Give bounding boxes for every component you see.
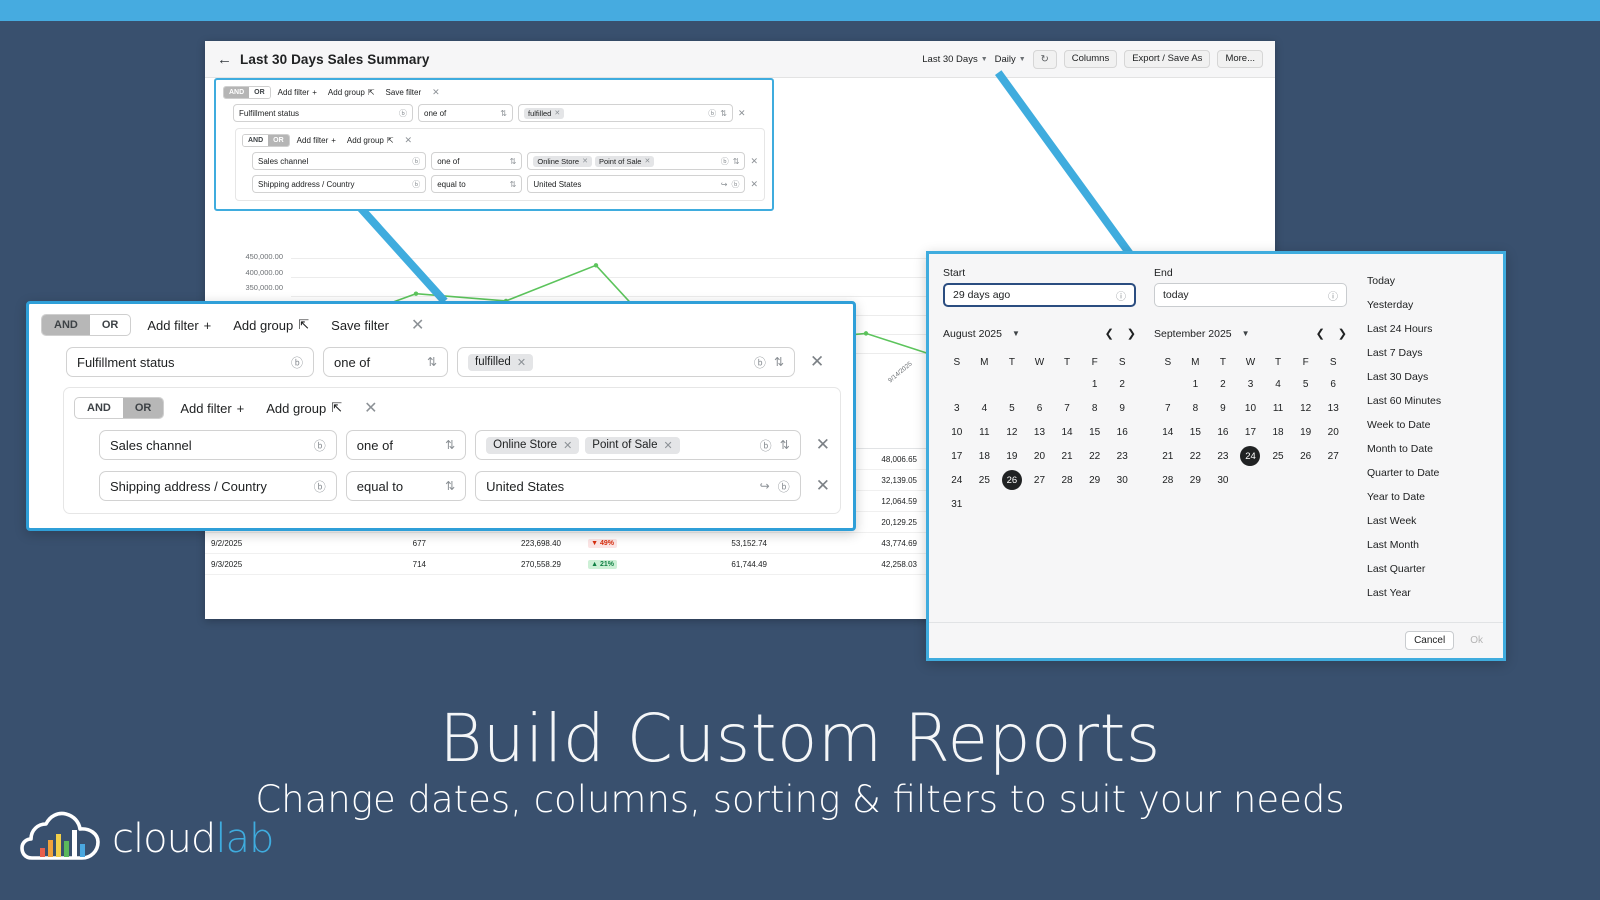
clear-icon[interactable]: ⓑ (721, 156, 729, 167)
chevron-down-icon: ▼ (1019, 56, 1026, 63)
date-range-label: Last 30 Days (922, 54, 977, 65)
calendar-day[interactable]: 3 (1237, 372, 1265, 396)
cell-orders: 677 (316, 539, 426, 548)
calendar-right-grid[interactable]: SMTWTFS123456789101112131415161718192021… (1154, 352, 1347, 492)
calendar-day[interactable]: 14 (1053, 420, 1081, 444)
filter-operator-select[interactable]: one of ⇅ (346, 430, 466, 460)
filter-row: Shipping address / Country ⓑ equal to ⇅ … (74, 471, 830, 501)
calendar-day[interactable]: 9 (1209, 396, 1237, 420)
end-label: End (1154, 267, 1347, 279)
plus-icon: + (204, 318, 212, 333)
calendar-day[interactable]: 18 (971, 444, 999, 468)
calendar-day[interactable]: 10 (943, 420, 971, 444)
date-preset-item[interactable]: Last Week (1361, 509, 1503, 533)
chevron-left-icon[interactable]: ❮ (1316, 327, 1325, 340)
calendar-dow: S (1108, 352, 1136, 372)
y-tick: 450,000.00 (215, 252, 283, 268)
filter-field-input[interactable]: Sales channel ⓑ (99, 430, 337, 460)
filter-group-toolbar: AND OR Add filter+ Add group⇱ Save filte… (223, 86, 765, 99)
calendar-day[interactable]: 24 (1237, 444, 1265, 468)
cancel-button[interactable]: Cancel (1405, 631, 1454, 650)
and-or-toggle[interactable]: AND OR (223, 86, 271, 99)
date-range-picker: Start 29 days ago ⓘ End today ⓘ (926, 251, 1506, 661)
calendars: August 2025 ▼ ❮ ❯ SMTWTFS123456789101112… (943, 327, 1347, 516)
calendar-day[interactable]: 6 (1319, 372, 1347, 396)
calendar-day[interactable]: 7 (1053, 396, 1081, 420)
filter-group-toolbar: AND OR Add filter+ Add group⇱ Save filte… (41, 314, 841, 336)
chevron-right-icon[interactable]: ❯ (1338, 327, 1347, 340)
plus-icon: + (331, 136, 336, 145)
calendar-day[interactable]: 9 (1108, 396, 1136, 420)
filter-operator-select[interactable]: one of ⇅ (431, 152, 522, 170)
calendar-blank (1053, 372, 1081, 396)
end-date-field: End today ⓘ (1154, 267, 1347, 307)
date-preset-item[interactable]: Last Month (1361, 533, 1503, 557)
calendar-day[interactable]: 27 (1319, 444, 1347, 468)
calendar-day[interactable]: 17 (1237, 420, 1265, 444)
save-filter-button[interactable]: Save filter (386, 88, 422, 97)
date-preset-item[interactable]: Last 30 Days (1361, 365, 1503, 389)
clear-icon[interactable]: ⓑ (412, 179, 420, 190)
calendar-day[interactable]: 31 (943, 492, 971, 516)
stepper-icon: ⇅ (445, 479, 455, 493)
add-filter-button[interactable]: Add filter+ (297, 136, 336, 145)
calendar-dow: W (1237, 352, 1265, 372)
filter-field-input[interactable]: Shipping address / Country ⓑ (99, 471, 337, 501)
add-group-button[interactable]: Add group⇱ (233, 317, 309, 333)
cell-sales: 223,698.40 (426, 539, 561, 548)
group-icon: ⇱ (298, 317, 309, 333)
calendar-day[interactable]: 17 (943, 444, 971, 468)
calendar-day[interactable]: 16 (1108, 420, 1136, 444)
calendar-day[interactable]: 21 (1053, 444, 1081, 468)
value-chip[interactable]: Point of Sale✕ (595, 156, 654, 167)
calendar-day[interactable]: 29 (1182, 468, 1210, 492)
value-chip[interactable]: fulfilled✕ (524, 108, 564, 119)
report-header: ← Last 30 Days Sales Summary Last 30 Day… (205, 41, 1275, 78)
plus-icon: + (237, 401, 245, 416)
close-icon[interactable]: ✕ (405, 135, 413, 146)
date-preset-item[interactable]: Quarter to Date (1361, 461, 1503, 485)
calendar-day[interactable]: 8 (1081, 396, 1109, 420)
cell-value-a: 61,744.49 (617, 560, 767, 569)
clear-icon[interactable]: ⓑ (754, 354, 766, 371)
calendar-blank (1154, 372, 1182, 396)
cell-value-b: 43,774.69 (767, 539, 917, 548)
cell-change: ▲ 21% (561, 559, 617, 569)
top-accent-bar (0, 0, 1600, 21)
calendar-day[interactable]: 19 (998, 444, 1026, 468)
filter-operator-select[interactable]: equal to ⇅ (346, 471, 466, 501)
calendar-day[interactable]: 28 (1154, 468, 1182, 492)
value-chip[interactable]: Point of Sale✕ (585, 437, 679, 454)
subgroup-toolbar: AND OR Add filter+ Add group⇱ ✕ (74, 397, 830, 419)
logo-text-cloud: cloud (112, 816, 215, 862)
calendar-day[interactable]: 27 (1026, 468, 1054, 492)
and-option[interactable]: AND (224, 87, 249, 98)
refresh-icon[interactable]: ↻ (1033, 50, 1057, 69)
calendar-dow: T (998, 352, 1026, 372)
date-picker-footer: Cancel Ok (929, 622, 1503, 658)
and-or-toggle[interactable]: AND OR (74, 397, 164, 419)
filter-subgroup: AND OR Add filter+ Add group⇱ ✕ Sales ch… (63, 387, 841, 514)
calendar-day[interactable]: 15 (1081, 420, 1109, 444)
stepper-icon: ⇅ (500, 109, 507, 118)
filter-value-input[interactable]: fulfilled✕ ⓑ⇅ (518, 104, 733, 122)
clear-icon[interactable]: ⓑ (412, 156, 420, 167)
remove-filter-row-icon[interactable]: ✕ (810, 352, 824, 372)
filter-value-input[interactable]: Online Store✕ Point of Sale✕ ⓑ⇅ (475, 430, 801, 460)
calendar-day-selected[interactable]: 26 (1002, 470, 1022, 490)
date-range-inputs: Start 29 days ago ⓘ End today ⓘ (943, 267, 1347, 307)
calendar-day[interactable]: 20 (1026, 444, 1054, 468)
granularity-label: Daily (995, 54, 1016, 65)
subgroup-toolbar: AND OR Add filter+ Add group⇱ ✕ (242, 134, 758, 147)
logo-text-lab: lab (215, 816, 273, 862)
columns-button[interactable]: Columns (1064, 50, 1118, 68)
calendar-dow: S (943, 352, 971, 372)
filter-panel-expanded: AND OR Add filter+ Add group⇱ Save filte… (26, 301, 856, 531)
calendar-day[interactable]: 4 (971, 396, 999, 420)
close-icon[interactable]: ✕ (364, 398, 377, 418)
calendar-dow: S (1319, 352, 1347, 372)
or-option[interactable]: OR (123, 398, 164, 418)
calendar-day[interactable]: 6 (1026, 396, 1054, 420)
calendar-day[interactable]: 23 (1108, 444, 1136, 468)
clear-icon[interactable]: ⓑ (314, 478, 326, 495)
close-icon[interactable]: ✕ (432, 87, 440, 98)
calendar-left-grid[interactable]: SMTWTFS123456789101112131415161718192021… (943, 352, 1136, 516)
stepper-icon: ⇅ (733, 157, 740, 166)
calendar-day[interactable]: 24 (943, 468, 971, 492)
cell-value-a: 53,152.74 (617, 539, 767, 548)
calendar-day[interactable]: 7 (1154, 396, 1182, 420)
calendar-dow: S (1154, 352, 1182, 372)
filter-subgroup: AND OR Add filter+ Add group⇱ ✕ Sales ch… (235, 128, 765, 201)
cell-date: 9/3/2025 (211, 560, 316, 569)
stepper-icon: ⇅ (774, 355, 784, 369)
calendar-day[interactable]: 10 (1237, 396, 1265, 420)
calendar-left-header: August 2025 ▼ ❮ ❯ (943, 327, 1136, 340)
filter-value-input[interactable]: United States ↪ⓑ (527, 175, 745, 193)
date-picker-body: Start 29 days ago ⓘ End today ⓘ (929, 254, 1503, 622)
and-option[interactable]: AND (243, 135, 268, 146)
filter-value-input[interactable]: United States ↪ⓑ (475, 471, 801, 501)
add-group-button[interactable]: Add group⇱ (347, 136, 394, 145)
start-label: Start (943, 267, 1136, 279)
chevron-down-icon[interactable]: ▼ (1242, 329, 1250, 338)
date-preset-item[interactable]: Last 24 Hours (1361, 317, 1503, 341)
filter-field-input[interactable]: Fulfillment status ⓑ (66, 347, 314, 377)
remove-filter-row-icon[interactable]: ✕ (816, 476, 830, 496)
chevron-right-icon[interactable]: ❯ (1127, 327, 1136, 340)
start-date-field: Start 29 days ago ⓘ (943, 267, 1136, 307)
chip-remove-icon: ✕ (582, 157, 588, 165)
calendar-dow: F (1081, 352, 1109, 372)
group-icon: ⇱ (368, 88, 375, 97)
calendar-day[interactable]: 2 (1108, 372, 1136, 396)
more-button[interactable]: More... (1217, 50, 1263, 68)
close-icon[interactable]: ✕ (411, 315, 424, 335)
calendar-blank (943, 372, 971, 396)
stepper-icon: ⇅ (510, 180, 517, 189)
calendar-dow: T (1053, 352, 1081, 372)
calendar-day[interactable]: 26 (998, 468, 1026, 492)
filter-field-input[interactable]: Fulfillment status ⓑ (233, 104, 413, 122)
start-date-value: 29 days ago (953, 289, 1010, 301)
remove-filter-row-icon[interactable]: ✕ (738, 108, 746, 119)
y-tick: 350,000.00 (215, 283, 283, 299)
add-group-button[interactable]: Add group⇱ (328, 88, 375, 97)
filter-operator-select[interactable]: one of ⇅ (418, 104, 513, 122)
filter-operator-select[interactable]: one of ⇅ (323, 347, 448, 377)
calendar-day-selected[interactable]: 24 (1240, 446, 1260, 466)
calendar-day[interactable]: 2 (1209, 372, 1237, 396)
stepper-icon: ⇅ (720, 109, 727, 118)
end-date-value: today (1163, 289, 1189, 301)
cell-change: ▼ 49% (561, 538, 617, 548)
clear-icon[interactable]: ⓑ (731, 179, 739, 190)
calendar-dow: F (1292, 352, 1320, 372)
calendar-day[interactable]: 11 (971, 420, 999, 444)
calendar-day[interactable]: 29 (1081, 468, 1109, 492)
calendar-right: September 2025 ▼ ❮ ❯ SMTWTFS123456789101… (1154, 327, 1347, 516)
add-filter-button[interactable]: Add filter+ (147, 318, 211, 333)
chip-remove-icon: ✕ (563, 439, 572, 452)
or-option[interactable]: OR (249, 87, 270, 98)
calendar-dow: T (1209, 352, 1237, 372)
calendar-day[interactable]: 16 (1209, 420, 1237, 444)
date-preset-item[interactable]: Month to Date (1361, 437, 1503, 461)
date-preset-item[interactable]: Last Year (1361, 581, 1503, 605)
date-preset-item[interactable]: Last 60 Minutes (1361, 389, 1503, 413)
enter-icon[interactable]: ↪ (721, 180, 728, 189)
filter-value-input[interactable]: fulfilled✕ ⓑ⇅ (457, 347, 795, 377)
calendar-day[interactable]: 30 (1209, 468, 1237, 492)
back-arrow-icon[interactable]: ← (217, 52, 232, 67)
remove-filter-row-icon[interactable]: ✕ (750, 179, 758, 190)
chevron-down-icon: ▼ (981, 56, 988, 63)
enter-icon[interactable]: ↪ (760, 479, 770, 493)
cloudlab-logo: cloudlab (20, 808, 273, 870)
date-preset-item[interactable]: Week to Date (1361, 413, 1503, 437)
filter-panel-compact: AND OR Add filter+ Add group⇱ Save filte… (214, 78, 774, 211)
calendar-day[interactable]: 25 (971, 468, 999, 492)
group-icon: ⇱ (331, 400, 342, 416)
calendar-day[interactable]: 12 (998, 420, 1026, 444)
granularity-selector[interactable]: Daily ▼ (995, 54, 1026, 65)
calendar-day[interactable]: 28 (1053, 468, 1081, 492)
marketing-headline: Build Custom Reports (0, 700, 1600, 777)
add-group-button[interactable]: Add group⇱ (266, 400, 342, 416)
ok-button[interactable]: Ok (1464, 632, 1489, 649)
value-chip[interactable]: Online Store✕ (486, 437, 579, 454)
cell-sales: 270,558.29 (426, 560, 561, 569)
calendar-day[interactable]: 3 (943, 396, 971, 420)
calendar-day[interactable]: 11 (1264, 396, 1292, 420)
date-preset-item[interactable]: Last Quarter (1361, 557, 1503, 581)
chip-remove-icon: ✕ (644, 157, 650, 165)
add-filter-button[interactable]: Add filter+ (180, 401, 244, 416)
clear-icon[interactable]: ⓑ (778, 478, 790, 495)
chip-remove-icon: ✕ (664, 439, 673, 452)
calendar-day[interactable]: 5 (998, 396, 1026, 420)
filter-value-input[interactable]: Online Store✕ Point of Sale✕ ⓑ⇅ (527, 152, 745, 170)
calendar-dow: M (971, 352, 999, 372)
help-icon[interactable]: ⓘ (1116, 288, 1126, 303)
date-preset-item[interactable]: Yesterday (1361, 293, 1503, 317)
save-filter-button[interactable]: Save filter (331, 318, 389, 333)
calendar-dow: W (1026, 352, 1054, 372)
clear-icon[interactable]: ⓑ (291, 354, 303, 371)
filter-row: Sales channel ⓑ one of ⇅ Online Store✕ P… (242, 152, 758, 170)
calendar-dow: T (1264, 352, 1292, 372)
help-icon[interactable]: ⓘ (1328, 288, 1338, 303)
export-save-as-button[interactable]: Export / Save As (1124, 50, 1210, 68)
and-option[interactable]: AND (42, 315, 90, 335)
chip-remove-icon: ✕ (517, 356, 526, 369)
end-date-input[interactable]: today ⓘ (1154, 283, 1347, 307)
date-preset-item[interactable]: Last 7 Days (1361, 341, 1503, 365)
cell-date: 9/2/2025 (211, 539, 316, 548)
and-or-toggle[interactable]: AND OR (41, 314, 131, 336)
report-toolbar: Last 30 Days ▼ Daily ▼ ↻ Columns Export … (922, 50, 1263, 69)
calendar-day[interactable]: 1 (1081, 372, 1109, 396)
calendar-left: August 2025 ▼ ❮ ❯ SMTWTFS123456789101112… (943, 327, 1136, 516)
chevron-left-icon[interactable]: ❮ (1105, 327, 1114, 340)
chevron-down-icon[interactable]: ▼ (1012, 329, 1020, 338)
clear-icon[interactable]: ⓑ (760, 437, 772, 454)
filter-field-input[interactable]: Sales channel ⓑ (252, 152, 426, 170)
filter-row: Fulfillment status ⓑ one of ⇅ fulfilled✕… (41, 347, 841, 377)
calendar-left-month: August 2025 (943, 328, 1002, 340)
calendar-day[interactable]: 8 (1182, 396, 1210, 420)
page-title: Last 30 Days Sales Summary (240, 52, 429, 67)
calendar-blank (998, 372, 1026, 396)
calendar-right-header: September 2025 ▼ ❮ ❯ (1154, 327, 1347, 340)
calendar-day[interactable]: 30 (1108, 468, 1136, 492)
calendar-day[interactable]: 13 (1026, 420, 1054, 444)
filter-row: Shipping address / Country ⓑ equal to ⇅ … (242, 175, 758, 193)
calendar-day[interactable]: 22 (1081, 444, 1109, 468)
calendar-day[interactable]: 21 (1154, 444, 1182, 468)
chip-remove-icon: ✕ (554, 109, 560, 117)
calendar-day[interactable]: 14 (1154, 420, 1182, 444)
start-date-input[interactable]: 29 days ago ⓘ (943, 283, 1136, 307)
or-option[interactable]: OR (90, 315, 131, 335)
calendar-day[interactable]: 15 (1182, 420, 1210, 444)
calendar-day[interactable]: 23 (1209, 444, 1237, 468)
clear-icon[interactable]: ⓑ (399, 108, 407, 119)
stepper-icon: ⇅ (427, 355, 437, 369)
calendar-day[interactable]: 19 (1292, 420, 1320, 444)
calendar-day[interactable]: 1 (1182, 372, 1210, 396)
plus-icon: + (312, 88, 317, 97)
cell-value-b: 42,258.03 (767, 560, 917, 569)
group-icon: ⇱ (387, 136, 394, 145)
filter-row: Fulfillment status ⓑ one of ⇅ fulfilled✕… (223, 104, 765, 122)
stepper-icon: ⇅ (445, 438, 455, 452)
cell-orders: 714 (316, 560, 426, 569)
remove-filter-row-icon[interactable]: ✕ (750, 156, 758, 167)
date-picker-calendars: Start 29 days ago ⓘ End today ⓘ (929, 267, 1361, 622)
remove-filter-row-icon[interactable]: ✕ (816, 435, 830, 455)
clear-icon[interactable]: ⓑ (708, 108, 716, 119)
calendar-dow: M (1182, 352, 1210, 372)
calendar-right-month: September 2025 (1154, 328, 1232, 340)
calendar-day[interactable]: 12 (1292, 396, 1320, 420)
value-chip[interactable]: Online Store✕ (533, 156, 592, 167)
value-chip[interactable]: fulfilled✕ (468, 354, 533, 371)
date-preset-item[interactable]: Year to Date (1361, 485, 1503, 509)
calendar-day[interactable]: 20 (1319, 420, 1347, 444)
calendar-blank (1026, 372, 1054, 396)
date-presets-list: TodayYesterdayLast 24 HoursLast 7 DaysLa… (1361, 267, 1503, 622)
and-option[interactable]: AND (75, 398, 123, 418)
calendar-day[interactable]: 13 (1319, 396, 1347, 420)
calendar-day[interactable]: 5 (1292, 372, 1320, 396)
calendar-blank (971, 372, 999, 396)
calendar-day[interactable]: 22 (1182, 444, 1210, 468)
filter-field-input[interactable]: Shipping address / Country ⓑ (252, 175, 426, 193)
calendar-day[interactable]: 18 (1264, 420, 1292, 444)
stepper-icon: ⇅ (510, 157, 517, 166)
date-preset-item[interactable]: Today (1361, 269, 1503, 293)
cloud-logo-icon (20, 808, 112, 870)
clear-icon[interactable]: ⓑ (314, 437, 326, 454)
calendar-day[interactable]: 25 (1264, 444, 1292, 468)
or-option[interactable]: OR (268, 135, 289, 146)
add-filter-button[interactable]: Add filter+ (278, 88, 317, 97)
y-tick: 400,000.00 (215, 268, 283, 284)
calendar-day[interactable]: 26 (1292, 444, 1320, 468)
stepper-icon: ⇅ (780, 438, 790, 452)
and-or-toggle[interactable]: AND OR (242, 134, 290, 147)
calendar-day[interactable]: 4 (1264, 372, 1292, 396)
filter-row: Sales channel ⓑ one of ⇅ Online Store✕ P… (74, 430, 830, 460)
filter-operator-select[interactable]: equal to ⇅ (431, 175, 522, 193)
date-range-selector[interactable]: Last 30 Days ▼ (922, 54, 987, 65)
